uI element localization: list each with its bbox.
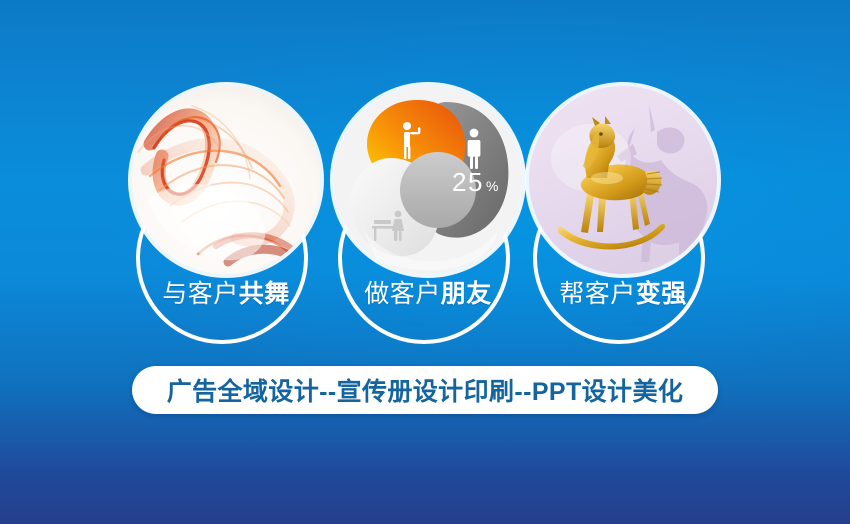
orange-smoke-swirl-artwork <box>132 86 320 274</box>
svg-text:%: % <box>486 178 498 194</box>
services-banner[interactable]: 广告全域设计--宣传册设计印刷--PPT设计美化 <box>132 366 718 414</box>
card-label-make-client-stronger: 帮客户变强 <box>525 272 721 316</box>
card-label-emphasis: 共舞 <box>239 280 290 308</box>
card-label-dance-with-client: 与客户共舞 <box>128 272 324 316</box>
services-banner-text: 广告全域设计--宣传册设计印刷--PPT设计美化 <box>167 372 684 408</box>
golden-rocking-horse-with-unicorn-shadow <box>529 86 717 274</box>
poster-canvas: 与客户共舞 <box>0 0 850 524</box>
feature-card-be-client-friend[interactable]: 25 % 做客户朋 <box>330 86 526 344</box>
blob-infographic-with-people-icons: 25 % <box>334 86 522 274</box>
feature-card-row: 与客户共舞 <box>0 86 850 344</box>
card-label-lead: 做客户 <box>364 280 441 308</box>
feature-card-make-client-stronger[interactable]: 帮客户变强 <box>525 86 721 344</box>
card-label-emphasis: 变强 <box>636 280 687 308</box>
card-label-lead: 帮客户 <box>559 280 636 308</box>
card-label-lead: 与客户 <box>162 280 239 308</box>
svg-text:25: 25 <box>452 167 484 197</box>
feature-card-dance-with-client[interactable]: 与客户共舞 <box>128 86 324 344</box>
card-label-emphasis: 朋友 <box>441 280 492 308</box>
card-label-be-client-friend: 做客户朋友 <box>330 272 526 316</box>
